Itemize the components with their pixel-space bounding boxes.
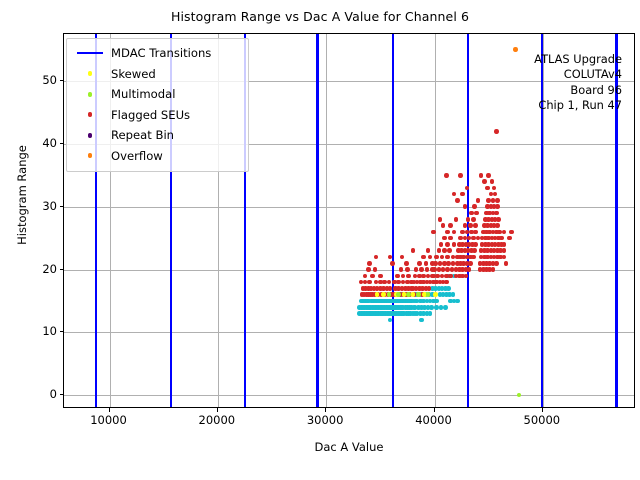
scatter-point xyxy=(463,223,468,228)
y-tick-mark xyxy=(60,143,64,144)
y-tick-mark xyxy=(60,394,64,395)
scatter-point xyxy=(439,242,444,247)
scatter-point xyxy=(463,204,468,209)
scatter-point xyxy=(502,248,507,253)
scatter-point xyxy=(454,217,459,222)
swatch-glyph xyxy=(88,92,93,97)
scatter-point xyxy=(513,47,518,52)
scatter-point xyxy=(458,173,463,178)
scatter-point xyxy=(452,242,457,247)
annotation-line: COLUTAv4 xyxy=(534,67,622,82)
figure-canvas: Histogram Range vs Dac A Value for Chann… xyxy=(0,0,640,480)
scatter-point xyxy=(502,255,507,260)
y-tick-label: 50 xyxy=(42,73,57,87)
scatter-point xyxy=(455,198,460,203)
scatter-point xyxy=(468,223,473,228)
x-tick-mark xyxy=(109,408,110,412)
legend-line-swatch xyxy=(73,52,107,54)
scatter-point xyxy=(370,274,375,279)
scatter-point xyxy=(473,223,478,228)
x-tick-mark xyxy=(217,408,218,412)
scatter-point xyxy=(425,267,430,272)
scatter-point xyxy=(517,393,522,398)
scatter-point xyxy=(502,230,507,235)
scatter-point xyxy=(406,292,411,297)
scatter-point xyxy=(367,280,372,285)
legend-dot-swatch xyxy=(73,92,107,97)
x-tick-label: 50000 xyxy=(524,413,561,427)
scatter-point xyxy=(395,274,400,279)
scatter-point xyxy=(465,186,470,191)
scatter-point xyxy=(434,299,439,304)
scatter-point xyxy=(411,292,416,297)
scatter-point xyxy=(451,292,456,297)
scatter-point xyxy=(491,267,496,272)
scatter-point xyxy=(469,211,474,216)
x-axis-label: Dac A Value xyxy=(63,440,635,454)
scatter-point xyxy=(400,255,405,260)
y-tick-label: 10 xyxy=(42,324,57,338)
scatter-point xyxy=(452,192,457,197)
scatter-point xyxy=(438,217,443,222)
scatter-point xyxy=(428,311,433,316)
swatch-glyph xyxy=(77,52,103,54)
scatter-point xyxy=(473,242,478,247)
scatter-point xyxy=(504,261,509,266)
scatter-point xyxy=(429,305,434,310)
scatter-point xyxy=(444,280,449,285)
scatter-point xyxy=(496,217,501,222)
y-tick-mark xyxy=(60,206,64,207)
legend-item-label: Multimodal xyxy=(107,87,175,101)
scatter-point xyxy=(426,248,431,253)
scatter-point xyxy=(437,248,442,253)
scatter-point xyxy=(411,248,416,253)
scatter-point xyxy=(445,230,450,235)
scatter-point xyxy=(464,274,469,279)
scatter-point xyxy=(417,261,422,266)
annotation-line: Chip 1, Run 47 xyxy=(534,98,622,113)
legend-dot-swatch xyxy=(73,133,107,138)
scatter-point xyxy=(443,305,448,310)
scatter-point xyxy=(494,211,499,216)
scatter-point xyxy=(424,261,429,266)
y-tick-mark xyxy=(60,269,64,270)
x-tick-label: 30000 xyxy=(307,413,344,427)
scatter-point xyxy=(445,255,450,260)
swatch-glyph xyxy=(88,133,93,138)
scatter-point xyxy=(396,292,401,297)
y-tick-mark xyxy=(60,331,64,332)
scatter-point xyxy=(495,223,500,228)
scatter-point xyxy=(509,230,514,235)
scatter-point xyxy=(419,267,424,272)
scatter-point xyxy=(448,223,453,228)
annotation-line: ATLAS Upgrade xyxy=(534,52,622,67)
x-tick-label: 20000 xyxy=(199,413,236,427)
legend-dot-swatch xyxy=(73,71,107,76)
legend-item[interactable]: Flagged SEUs xyxy=(73,105,242,126)
scatter-point xyxy=(373,267,378,272)
x-tick-mark xyxy=(325,408,326,412)
y-tick-label: 0 xyxy=(50,387,57,401)
scatter-point xyxy=(421,255,426,260)
scatter-point xyxy=(442,236,447,241)
scatter-point xyxy=(388,286,393,291)
scatter-point xyxy=(378,274,383,279)
run-info-annotation: ATLAS UpgradeCOLUTAv4Board 96Chip 1, Run… xyxy=(534,52,622,114)
scatter-point xyxy=(366,267,371,272)
scatter-point xyxy=(444,173,449,178)
scatter-point xyxy=(495,204,500,209)
scatter-point xyxy=(441,223,446,228)
scatter-point xyxy=(493,192,498,197)
scatter-point xyxy=(448,274,453,279)
swatch-glyph xyxy=(88,153,93,158)
scatter-point xyxy=(414,267,419,272)
scatter-point xyxy=(472,248,477,253)
scatter-point xyxy=(466,217,471,222)
legend-item[interactable]: MDAC Transitions xyxy=(73,43,242,64)
legend-item[interactable]: Multimodal xyxy=(73,84,242,105)
y-tick-label: 30 xyxy=(42,199,57,213)
annotation-line: Board 96 xyxy=(534,83,622,98)
scatter-point xyxy=(507,236,512,241)
scatter-point xyxy=(404,261,409,266)
y-tick-label: 20 xyxy=(42,262,57,276)
scatter-point xyxy=(406,274,411,279)
y-tick-label: 40 xyxy=(42,136,57,150)
scatter-point xyxy=(399,267,404,272)
scatter-point xyxy=(452,230,457,235)
scatter-point xyxy=(419,318,424,323)
legend-item-label: Repeat Bin xyxy=(107,128,174,142)
y-tick-mark xyxy=(60,80,64,81)
scatter-point xyxy=(471,255,476,260)
scatter-point xyxy=(442,248,447,253)
scatter-point xyxy=(455,299,460,304)
scatter-point xyxy=(447,248,452,253)
scatter-point xyxy=(431,230,436,235)
scatter-point xyxy=(482,179,487,184)
scatter-point xyxy=(388,318,393,323)
scatter-point xyxy=(494,129,499,134)
legend-item[interactable]: Overflow xyxy=(73,146,242,167)
x-tick-mark xyxy=(542,408,543,412)
legend-item[interactable]: Skewed xyxy=(73,64,242,85)
legend-item-label: MDAC Transitions xyxy=(107,46,211,60)
scatter-point xyxy=(502,242,507,247)
x-tick-label: 10000 xyxy=(90,413,127,427)
scatter-point xyxy=(492,186,497,191)
scatter-point xyxy=(471,217,476,222)
legend-item[interactable]: Repeat Bin xyxy=(73,125,242,146)
scatter-point xyxy=(374,255,379,260)
scatter-point xyxy=(405,267,410,272)
x-tick-mark xyxy=(434,408,435,412)
scatter-point xyxy=(427,286,432,291)
scatter-point xyxy=(460,192,465,197)
scatter-point xyxy=(446,286,451,291)
scatter-point xyxy=(381,292,386,297)
scatter-point xyxy=(448,236,453,241)
page-title: Histogram Range vs Dac A Value for Chann… xyxy=(0,9,640,24)
scatter-point xyxy=(363,274,368,279)
legend[interactable]: MDAC TransitionsSkewedMultimodalFlagged … xyxy=(66,38,249,172)
scatter-point xyxy=(485,186,490,191)
scatter-point xyxy=(434,255,439,260)
legend-item-label: Skewed xyxy=(107,67,156,81)
scatter-point xyxy=(416,292,421,297)
swatch-glyph xyxy=(88,112,93,117)
scatter-point xyxy=(390,261,395,266)
scatter-point xyxy=(472,204,477,209)
legend-item-label: Overflow xyxy=(107,149,163,163)
scatter-point xyxy=(476,198,481,203)
scatter-point xyxy=(479,173,484,178)
scatter-point xyxy=(433,292,438,297)
scatter-point xyxy=(467,267,472,272)
swatch-glyph xyxy=(88,71,93,76)
scatter-point xyxy=(468,261,473,266)
scatter-point xyxy=(440,255,445,260)
x-tick-label: 40000 xyxy=(415,413,452,427)
scatter-point xyxy=(388,255,393,260)
scatter-point xyxy=(499,236,504,241)
y-axis-label: Histogram Range xyxy=(15,95,29,295)
scatter-point xyxy=(490,179,495,184)
scatter-point xyxy=(494,261,499,266)
scatter-point xyxy=(367,261,372,266)
scatter-point xyxy=(401,274,406,279)
legend-item-label: Flagged SEUs xyxy=(107,108,190,122)
scatter-point xyxy=(486,173,491,178)
scatter-point xyxy=(495,198,500,203)
scatter-point xyxy=(445,242,450,247)
legend-dot-swatch xyxy=(73,112,107,117)
scatter-point xyxy=(474,211,479,216)
scatter-point xyxy=(428,255,433,260)
scatter-point xyxy=(387,280,392,285)
legend-dot-swatch xyxy=(73,153,107,158)
scatter-point xyxy=(473,230,478,235)
